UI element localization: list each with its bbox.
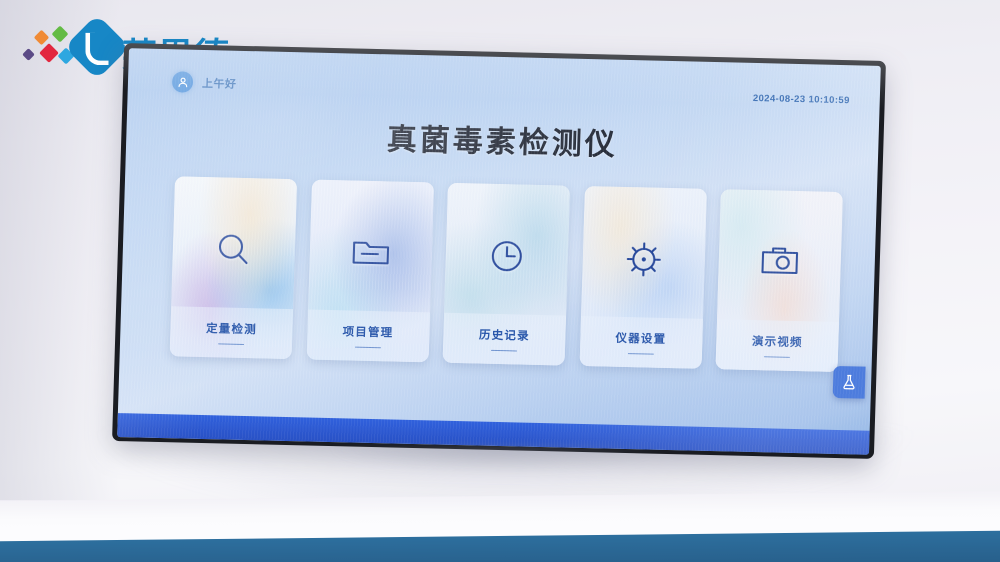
folder-icon <box>309 232 432 273</box>
card-project-management[interactable]: 项目管理 <box>306 180 433 363</box>
logo-diamond-shape <box>64 14 130 80</box>
card-footer: 历史记录 <box>443 313 566 366</box>
card-label: 演示视频 <box>752 333 803 350</box>
greeting-block: 上午好 <box>172 71 237 94</box>
magnifier-icon <box>172 228 295 271</box>
greeting-text: 上午好 <box>202 74 237 91</box>
monitor-stand-shadow <box>330 446 660 472</box>
card-quantitative-detection[interactable]: 定量检测 <box>170 176 297 359</box>
logo-dot-green <box>52 26 69 43</box>
card-underline <box>764 356 790 358</box>
gear-icon <box>582 238 705 281</box>
card-history-records[interactable]: 历史记录 <box>443 183 570 366</box>
card-grid: 定量检测 项目管理 <box>170 176 843 372</box>
card-underline <box>218 343 244 345</box>
clock-icon <box>445 235 568 278</box>
logo-dot-orange <box>34 30 50 46</box>
logo-dot-purple <box>22 48 35 61</box>
card-instrument-settings[interactable]: 仪器设置 <box>579 186 706 369</box>
card-underline <box>491 350 517 352</box>
logo-dot-red <box>39 43 59 63</box>
card-footer: 演示视频 <box>715 319 838 372</box>
card-label: 项目管理 <box>342 323 393 340</box>
card-demo-video[interactable]: 演示视频 <box>715 189 842 372</box>
card-footer: 项目管理 <box>306 310 429 363</box>
user-avatar-icon[interactable] <box>172 71 194 92</box>
card-label: 定量检测 <box>206 320 257 337</box>
page-title: 真菌毒素检测仪 <box>126 108 879 170</box>
card-label: 历史记录 <box>479 326 530 343</box>
card-footer: 仪器设置 <box>579 316 702 369</box>
scene: 莱恩德 上午好 2024-08-23 10:10:59 真菌毒素检测仪 <box>0 0 1000 562</box>
monitor: 上午好 2024-08-23 10:10:59 真菌毒素检测仪 <box>112 43 886 459</box>
card-label: 仪器设置 <box>615 330 666 347</box>
camera-icon <box>718 241 841 280</box>
liande-diamond-logo-icon <box>64 20 124 76</box>
device-screen: 上午好 2024-08-23 10:10:59 真菌毒素检测仪 <box>117 48 881 455</box>
card-footer: 定量检测 <box>170 306 293 359</box>
timestamp: 2024-08-23 10:10:59 <box>753 93 850 106</box>
card-underline <box>354 346 380 348</box>
flask-icon-button[interactable] <box>833 366 866 399</box>
card-underline <box>627 353 653 355</box>
